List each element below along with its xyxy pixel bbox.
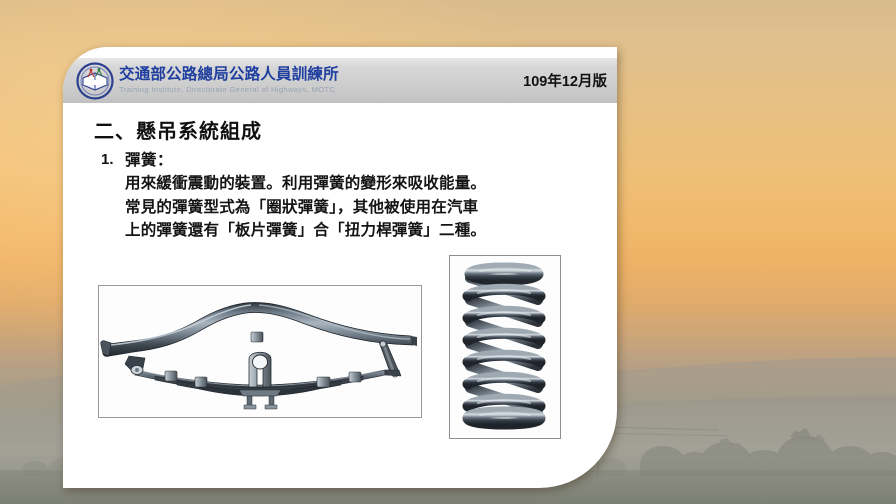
list-item: 1. 彈簧： 用來緩衝震動的裝置。利用彈簧的變形來吸收能量。 常見的彈簧型式為「… <box>101 150 601 242</box>
list-item-heading: 彈簧： <box>125 150 601 172</box>
organization-name-block: 交通部公路總局公路人員訓練所 Training Institute, Direc… <box>119 67 339 93</box>
list-item-line: 上的彈簧還有「板片彈簧」合「扭力桿彈簧」二種。 <box>125 219 601 242</box>
training-institute-emblem-icon <box>75 61 115 101</box>
content-list: 1. 彈簧： 用來緩衝震動的裝置。利用彈簧的變形來吸收能量。 常見的彈簧型式為「… <box>101 150 601 242</box>
list-item-line: 常見的彈簧型式為「圈狀彈簧」，其他被使用在汽車 <box>125 196 601 219</box>
presentation-screenshot: 交通部公路總局公路人員訓練所 Training Institute, Direc… <box>0 0 896 504</box>
list-item-line: 用來緩衝震動的裝置。利用彈簧的變形來吸收能量。 <box>125 172 601 195</box>
organization-name-chinese: 交通部公路總局公路人員訓練所 <box>119 67 339 83</box>
slide-header: 交通部公路總局公路人員訓練所 Training Institute, Direc… <box>63 58 617 103</box>
coil-spring-figure <box>449 255 561 439</box>
organization-name-english: Training Institute, Directorate General … <box>119 86 339 94</box>
leaf-spring-suspension-figure <box>98 285 422 418</box>
list-item-number: 1. <box>101 150 125 168</box>
list-item-body: 彈簧： 用來緩衝震動的裝置。利用彈簧的變形來吸收能量。 常見的彈簧型式為「圈狀彈… <box>125 150 601 242</box>
page-title: 二、懸吊系統組成 <box>94 115 262 144</box>
slide-card: 交通部公路總局公路人員訓練所 Training Institute, Direc… <box>63 47 617 488</box>
version-label: 109年12月版 <box>523 70 607 91</box>
